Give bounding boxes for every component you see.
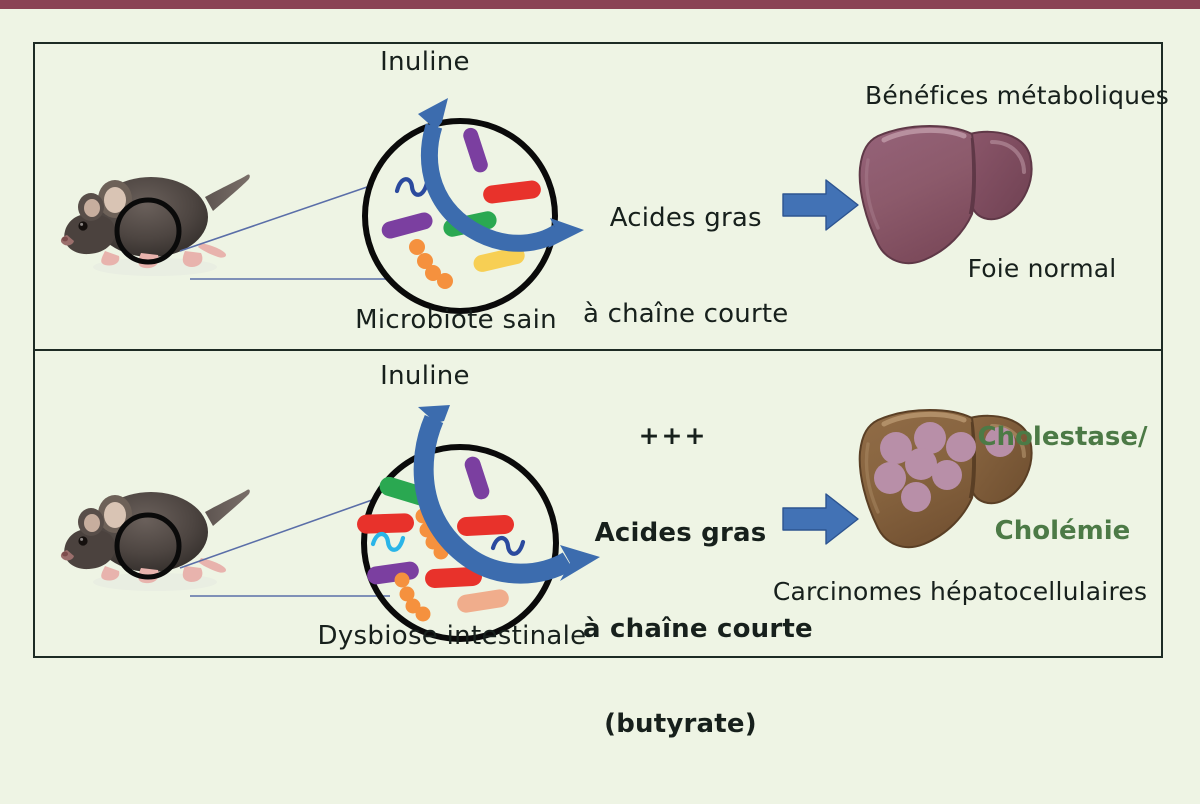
label-hcc: Carcinomes hépatocellulaires xyxy=(773,578,1147,606)
curved-arrow-icon xyxy=(392,92,602,262)
scfa-line-1-b: Acides gras xyxy=(583,518,778,550)
label-metabolic-benefits: Bénéfices métaboliques xyxy=(865,82,1169,110)
label-inuline-top: Inuline xyxy=(380,48,470,77)
cholestasis-line-1: Cholestase/ xyxy=(955,422,1170,453)
scfa-line-2-b: à chaîne courte xyxy=(583,614,778,646)
label-normal-liver: Foie normal xyxy=(968,255,1117,283)
label-inuline-bottom: Inuline xyxy=(380,362,470,391)
liver-icon-healthy xyxy=(848,120,1038,270)
label-cholestasis: Cholestase/ Cholémie xyxy=(955,360,1170,610)
label-microbiota-dysbiosis: Dysbiose intestinale xyxy=(318,622,587,651)
figure-canvas: Inuline Microbiote sain Acides gras à ch… xyxy=(0,0,1200,700)
top-accent-bar xyxy=(0,0,1200,9)
scfa-line-2: à chaîne courte xyxy=(583,299,788,331)
cholestasis-line-2: Cholémie xyxy=(955,516,1170,547)
scfa-line-3-b: (butyrate) xyxy=(583,709,778,741)
label-microbiota-healthy: Microbiote sain xyxy=(355,306,557,335)
label-scfa-emphasis: +++ xyxy=(639,422,708,450)
label-scfa-dysbiosis: Acides gras à chaîne courte (butyrate) xyxy=(583,455,778,804)
scfa-line-1: Acides gras xyxy=(583,203,788,235)
